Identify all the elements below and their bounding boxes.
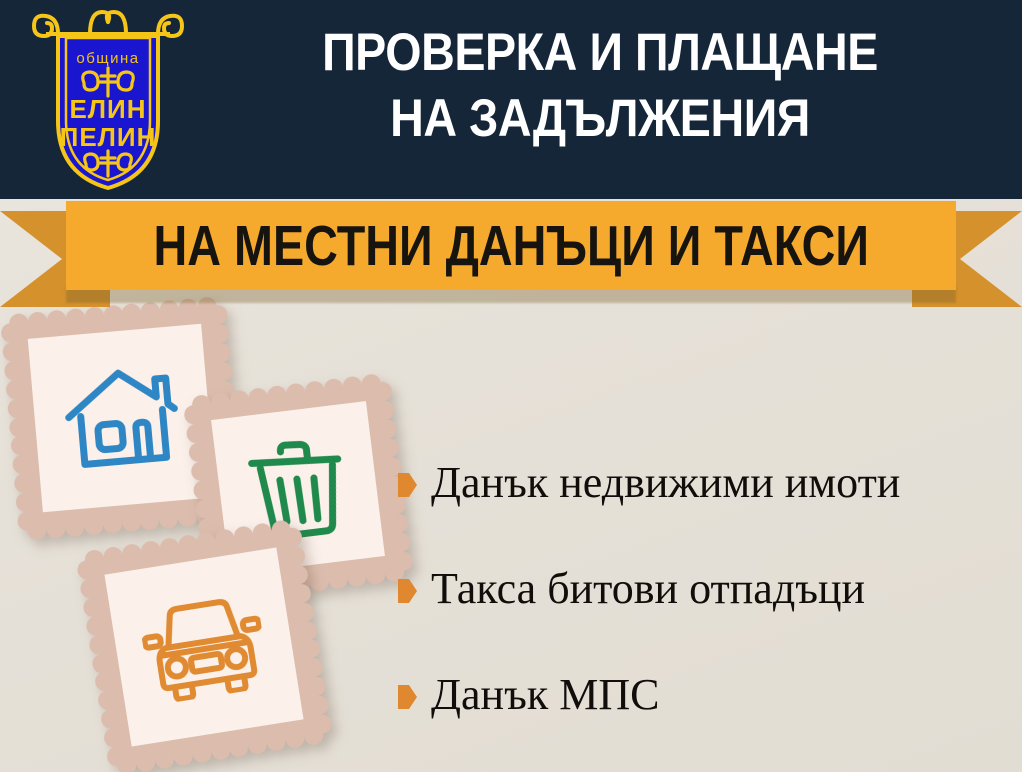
subtitle-ribbon: НА МЕСТНИ ДАНЪЦИ И ТАКСИ <box>0 199 1022 314</box>
stamp-perforation-dot <box>96 690 118 712</box>
stamp-perforation-dot <box>84 615 106 637</box>
car-front-icon <box>137 588 271 706</box>
stamp-perforation-dot <box>342 375 363 396</box>
stamp-perforation-dot <box>327 568 348 589</box>
list-item-label: Такса битови отпадъци <box>431 564 865 614</box>
stamp-perforation-dot <box>0 323 20 344</box>
house-icon <box>59 360 186 476</box>
stamp-perforation-dot <box>376 419 397 440</box>
stamp-perforation-dot <box>285 382 306 403</box>
stamp-perforation-dot <box>158 536 180 558</box>
stamp-perforation-dot <box>228 736 250 758</box>
stamp-perforation-dot <box>177 533 199 555</box>
stamp-perforation-dot <box>140 510 161 531</box>
stamp-perforation-dot <box>247 733 269 755</box>
stamp-perforation-dot <box>229 389 250 410</box>
ribbon-band: НА МЕСТНИ ДАНЪЦИ И ТАКСИ <box>66 201 956 290</box>
ribbon-label: НА МЕСТНИ ДАНЪЦИ И ТАКСИ <box>153 217 868 275</box>
header-bar: община ЕЛИН ПЕЛИН <box>0 0 1022 199</box>
stamp-perforation-dot <box>296 620 318 642</box>
stamp-perforation-dot <box>82 596 104 618</box>
stamp-perforation-dot <box>3 360 24 381</box>
arrow-bullet-icon <box>398 579 417 603</box>
stamp-perforation-dot <box>212 361 233 382</box>
stamp-perforation-dot <box>79 578 101 600</box>
stamp-perforation-dot <box>64 516 85 537</box>
stamp-perforation-dot <box>45 518 66 539</box>
stamp-perforation-dot <box>8 417 29 438</box>
stamp-perforation-dot <box>121 511 142 532</box>
arrow-bullet-icon <box>398 473 417 497</box>
stamp-perforation-dot <box>5 379 26 400</box>
stamp-perforation-dot <box>302 657 324 679</box>
logo-top-word: община <box>76 50 139 67</box>
stamp-perforation-dot <box>102 545 124 567</box>
stamp-perforation-dot <box>378 438 399 459</box>
stamp-perforation-dot <box>346 566 367 587</box>
stamp-perforation-dot <box>308 571 329 592</box>
stamp-perforation-dot <box>10 436 31 457</box>
stamp-perforation-dot <box>365 564 386 585</box>
stamp-perforation-dot <box>293 601 315 623</box>
stamp-perforation-dot <box>191 742 213 764</box>
stamp-perforation-dot <box>99 708 121 730</box>
stamp-perforation-dot <box>266 384 287 405</box>
stamp-perforation-dot <box>139 539 161 561</box>
stamp-perforation-dot <box>13 473 34 494</box>
municipality-logo: община ЕЛИН ПЕЛИН <box>28 6 188 194</box>
stamp-perforation-dot <box>371 381 392 402</box>
stamp-perforation-dot <box>265 730 287 752</box>
elin-pelin-coat-of-arms-icon: община ЕЛИН ПЕЛИН <box>28 6 188 194</box>
stamp-perforation-dot <box>2 341 23 362</box>
stamp-perforation-dot <box>15 492 36 513</box>
stamp-perforation-dot <box>172 745 194 767</box>
stamp-perforation-dot <box>209 323 230 344</box>
stamp-perforation-dot <box>135 751 157 772</box>
stamp-perforation-dot <box>6 398 27 419</box>
list-item[interactable]: Данък недвижими имоти <box>398 430 1018 536</box>
stamp-vehicle-tax <box>85 528 323 766</box>
stamp-perforation-dot <box>177 506 198 527</box>
stamp-perforation-dot <box>323 377 344 398</box>
stamp-perforation-dot <box>11 454 32 475</box>
tax-type-list: Данък недвижими имоти Такса битови отпад… <box>398 430 1018 748</box>
stamp-perforation-dot <box>308 695 330 717</box>
poster-canvas: община ЕЛИН ПЕЛИН <box>0 0 1022 772</box>
stamp-perforation-dot <box>90 652 112 674</box>
stamp-perforation-dot <box>210 342 231 363</box>
stamp-perforation-dot <box>248 387 269 408</box>
stamp-perforation-dot <box>121 542 143 564</box>
logo-name-line-1: ЕЛИН <box>69 94 146 124</box>
stamp-perforation-dot <box>304 380 325 401</box>
arrow-bullet-icon <box>398 685 417 709</box>
stamp-perforation-dot <box>102 727 124 749</box>
list-item-label: Данък МПС <box>431 670 659 720</box>
page-title: ПРОВЕРКА И ПЛАЩАНЕ НА ЗАДЪЛЖЕНИЯ <box>239 20 961 152</box>
stamp-perforation-dot <box>83 515 104 536</box>
stamp-perforation-dot <box>305 676 327 698</box>
stamp-perforation-dot <box>158 508 179 529</box>
stamp-face <box>104 547 303 746</box>
stamp-perforation-dot <box>102 513 123 534</box>
stamp-perforation-dot <box>87 634 109 656</box>
stamp-perforation-dot <box>284 727 306 749</box>
stamp-perforation-dot <box>153 748 175 770</box>
stamp-perforation-dot <box>93 671 115 693</box>
logo-name-line-2: ПЕЛИН <box>60 122 157 152</box>
list-item[interactable]: Такса битови отпадъци <box>398 536 1018 642</box>
list-item[interactable]: Данък МПС <box>398 642 1018 748</box>
stamp-perforation-dot <box>209 739 231 761</box>
stamp-perforation-dot <box>299 639 321 661</box>
stamp-perforation-dot <box>374 400 395 421</box>
list-item-label: Данък недвижими имоти <box>431 458 900 508</box>
